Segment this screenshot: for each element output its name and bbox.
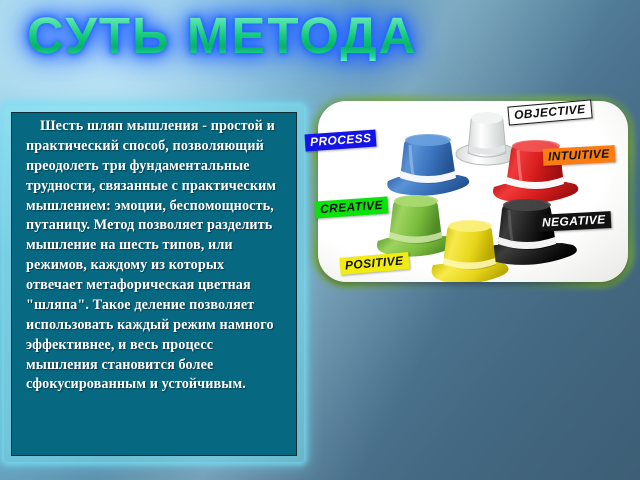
body-paragraph: Шесть шляп мышления - простой и практиче… — [26, 117, 282, 395]
slide-canvas: СУТЬ МЕТОДА Шесть шляп мышления - просто… — [0, 0, 640, 480]
page-title: СУТЬ МЕТОДА — [27, 10, 417, 61]
yellow-hat-icon — [423, 219, 519, 282]
